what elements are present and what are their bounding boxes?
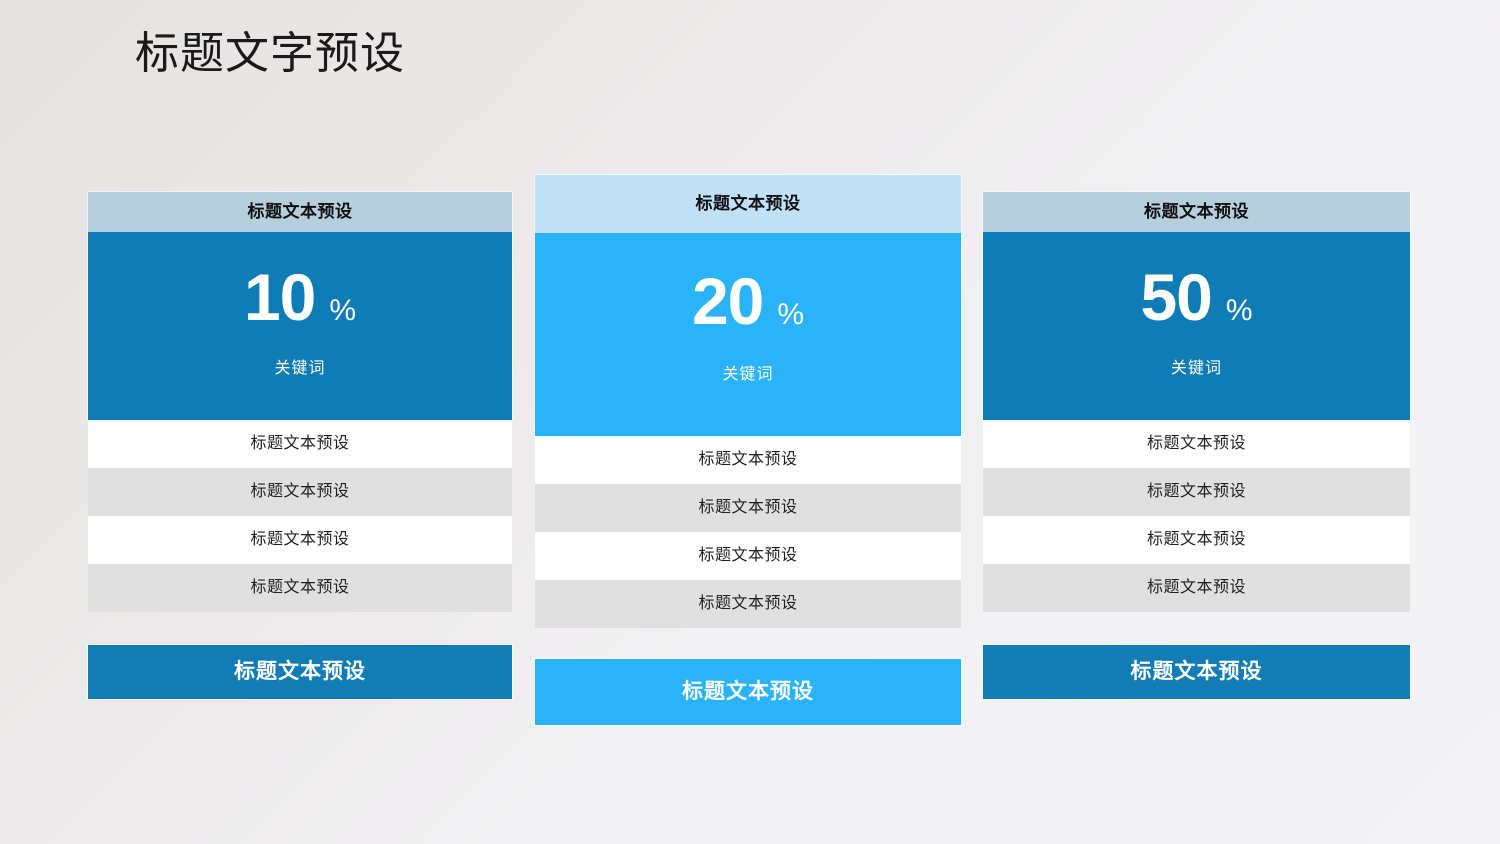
comparison-column-3[interactable]: 标题文本预设 50 % 关键词 标题文本预设 标题文本预设 标题文本预设 标题文…	[983, 192, 1410, 699]
list-item[interactable]: 标题文本预设	[983, 516, 1410, 564]
row-list-2: 标题文本预设 标题文本预设 标题文本预设 标题文本预设	[535, 436, 961, 628]
list-item[interactable]: 标题文本预设	[88, 564, 512, 612]
list-item[interactable]: 标题文本预设	[535, 484, 961, 532]
card-header-1: 标题文本预设	[88, 192, 512, 232]
list-item[interactable]: 标题文本预设	[983, 468, 1410, 516]
percent-symbol-1: %	[329, 296, 356, 326]
percent-symbol-2: %	[777, 300, 804, 330]
list-item[interactable]: 标题文本预设	[88, 516, 512, 564]
stat-value-3: 50	[1140, 264, 1211, 330]
stat-number-row-2: 20 %	[535, 233, 961, 334]
percent-symbol-3: %	[1226, 296, 1253, 326]
footer-button-3[interactable]: 标题文本预设	[983, 645, 1410, 699]
row-list-1: 标题文本预设 标题文本预设 标题文本预设 标题文本预设	[88, 420, 512, 612]
stat-number-row-1: 10 %	[88, 232, 512, 330]
comparison-column-2[interactable]: 标题文本预设 20 % 关键词 标题文本预设 标题文本预设 标题文本预设 标题文…	[535, 175, 961, 725]
card-header-3: 标题文本预设	[983, 192, 1410, 232]
list-item[interactable]: 标题文本预设	[88, 468, 512, 516]
row-list-3: 标题文本预设 标题文本预设 标题文本预设 标题文本预设	[983, 420, 1410, 612]
list-item[interactable]: 标题文本预设	[983, 564, 1410, 612]
list-item[interactable]: 标题文本预设	[535, 532, 961, 580]
footer-button-1[interactable]: 标题文本预设	[88, 645, 512, 699]
slide-canvas: 标题文字预设 标题文本预设 10 % 关键词 标题文本预设 标题文本预设 标题文…	[0, 0, 1500, 844]
stat-block-3: 50 % 关键词	[983, 232, 1410, 420]
card-header-2: 标题文本预设	[535, 175, 961, 233]
stat-card-3: 标题文本预设 50 % 关键词	[983, 192, 1410, 420]
stat-number-row-3: 50 %	[983, 232, 1410, 330]
list-item[interactable]: 标题文本预设	[535, 580, 961, 628]
stat-card-1: 标题文本预设 10 % 关键词	[88, 192, 512, 420]
stat-block-2: 20 % 关键词	[535, 233, 961, 436]
stat-value-2: 20	[692, 268, 763, 334]
stat-keyword-2: 关键词	[535, 360, 961, 384]
footer-button-2[interactable]: 标题文本预设	[535, 659, 961, 725]
list-item[interactable]: 标题文本预设	[983, 420, 1410, 468]
comparison-columns: 标题文本预设 10 % 关键词 标题文本预设 标题文本预设 标题文本预设 标题文…	[0, 0, 1500, 844]
stat-block-1: 10 % 关键词	[88, 232, 512, 420]
stat-keyword-3: 关键词	[983, 354, 1410, 378]
stat-card-2: 标题文本预设 20 % 关键词	[535, 175, 961, 436]
comparison-column-1[interactable]: 标题文本预设 10 % 关键词 标题文本预设 标题文本预设 标题文本预设 标题文…	[88, 192, 512, 699]
list-item[interactable]: 标题文本预设	[535, 436, 961, 484]
stat-value-1: 10	[244, 264, 315, 330]
stat-keyword-1: 关键词	[88, 354, 512, 378]
list-item[interactable]: 标题文本预设	[88, 420, 512, 468]
